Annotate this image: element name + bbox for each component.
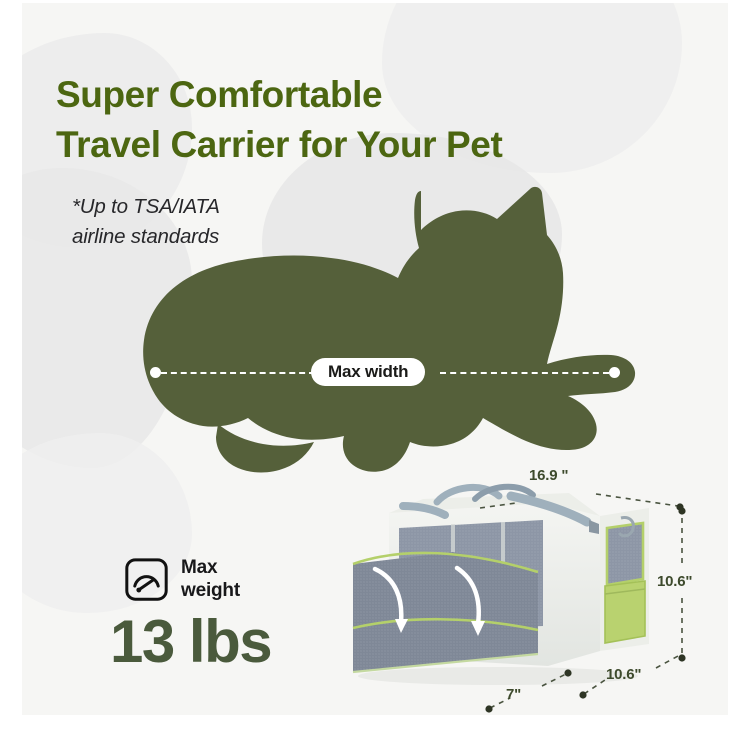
dimension-label-top: 16.9 "	[529, 467, 568, 484]
measurement-endpoint-left	[150, 367, 161, 378]
dimension-line-diag-left	[484, 668, 594, 716]
max-weight-label: Max weight	[181, 556, 240, 602]
cat-silhouette	[138, 178, 638, 490]
measurement-endpoint-right	[609, 367, 620, 378]
max-weight-row: Max weight	[124, 556, 271, 602]
dimension-line-top	[480, 474, 695, 519]
gauge-icon	[124, 557, 169, 602]
max-weight-block: Max weight 13 lbs	[124, 556, 271, 674]
dimension-label-diagonal-right: 10.6"	[606, 666, 641, 683]
measurement-dash-right	[440, 372, 609, 374]
measurement-dash-left	[161, 372, 315, 374]
page-title: Super Comfortable Travel Carrier for You…	[56, 70, 696, 170]
max-width-measurement: Max width	[150, 358, 620, 386]
dimension-label-right: 10.6"	[657, 573, 692, 590]
product-infographic: Super Comfortable Travel Carrier for You…	[0, 0, 750, 750]
max-weight-value: 13 lbs	[110, 610, 271, 674]
dimension-label-diagonal-left: 7"	[506, 686, 521, 703]
max-width-badge: Max width	[311, 358, 425, 386]
